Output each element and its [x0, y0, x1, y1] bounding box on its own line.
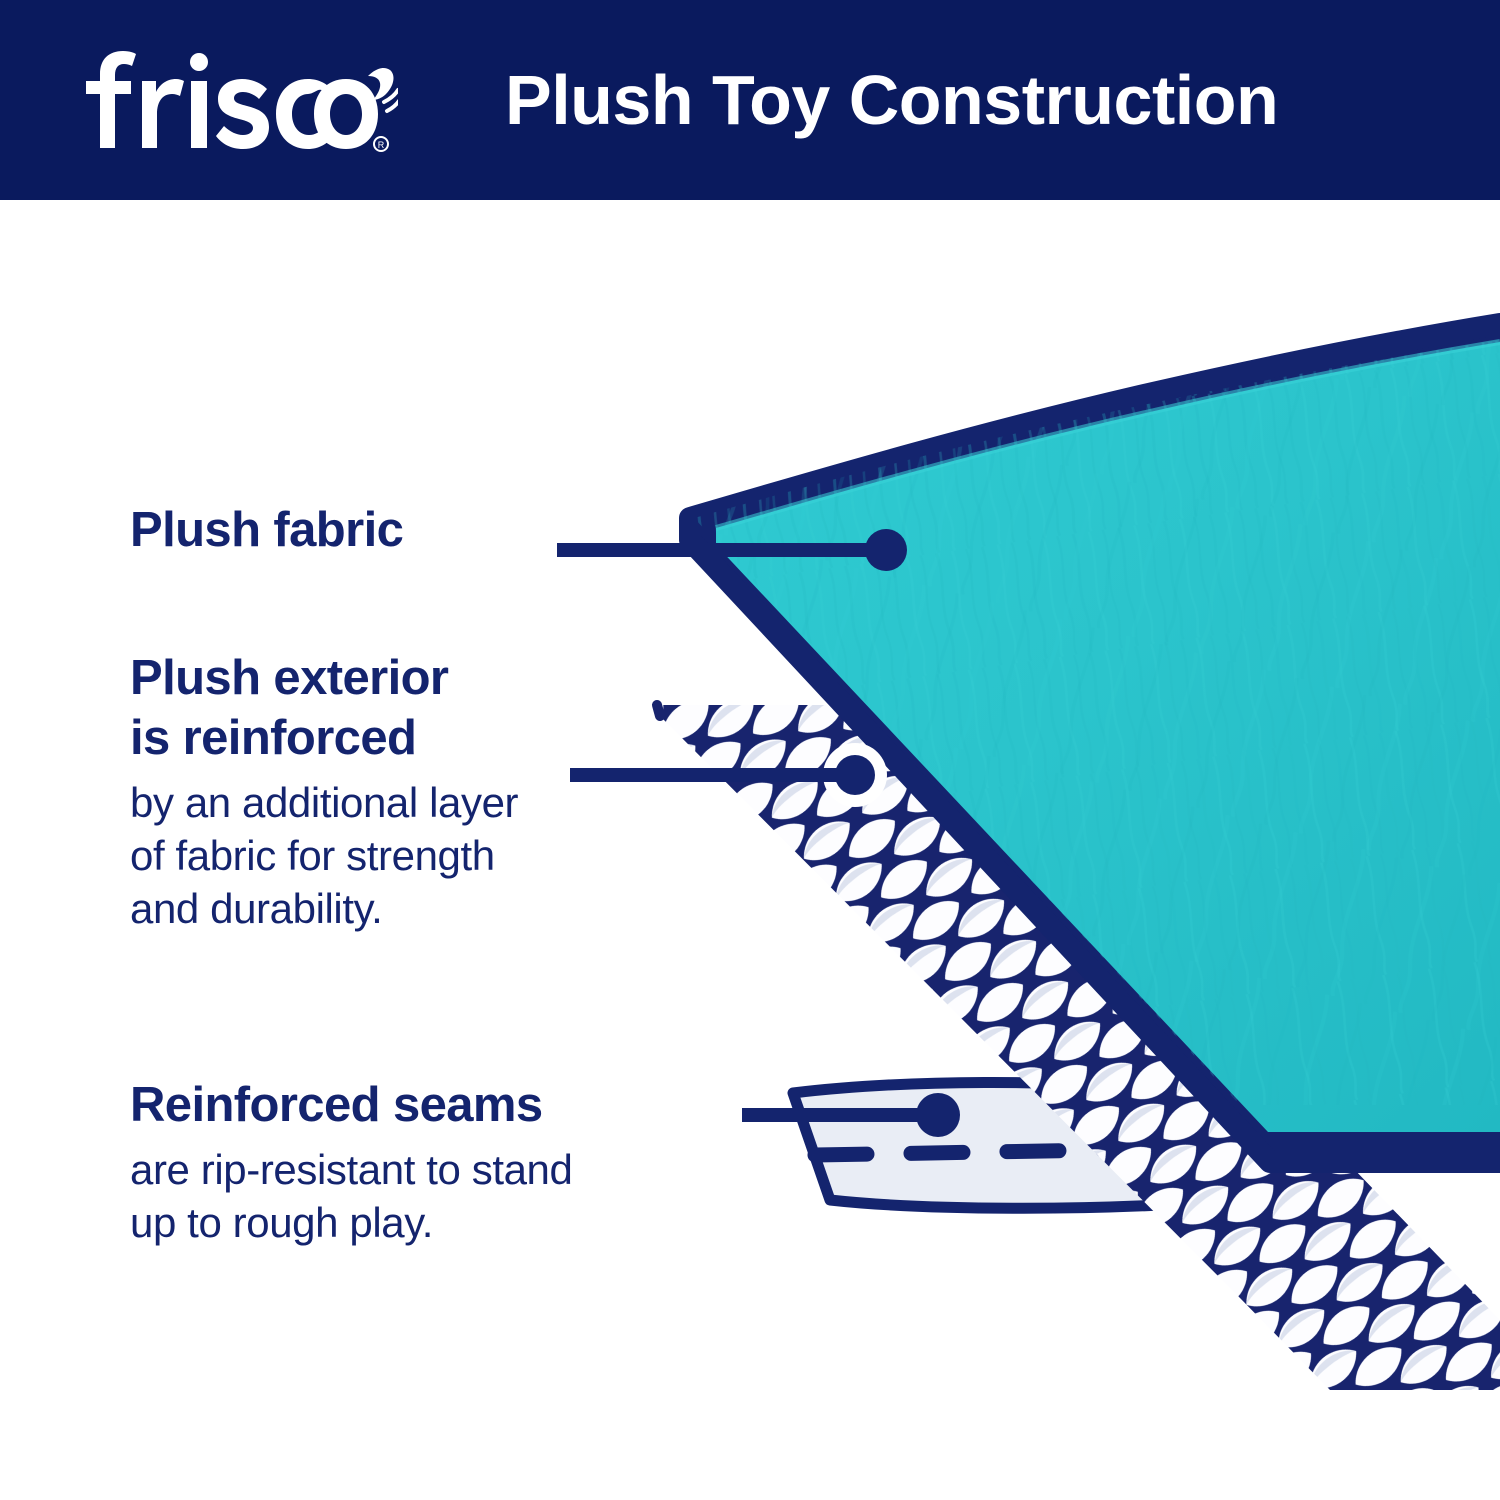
callout-reinforced-seams: Reinforced seams are rip-resistant to st…: [130, 1075, 790, 1249]
marker-dot-plush-exterior: [835, 755, 875, 795]
callout-heading: Plush fabric: [130, 500, 560, 560]
marker-dot-reinforced-seams: [916, 1093, 960, 1137]
callout-heading: Plush exterior is reinforced: [130, 648, 600, 768]
page-title: Plush Toy Construction: [505, 52, 1405, 148]
marker-dot-plush-fabric: [865, 529, 907, 571]
header-bar: R Plush Toy Construction: [0, 0, 1500, 200]
infographic-page: R Plush Toy Construction: [0, 0, 1500, 1500]
callout-plush-fabric: Plush fabric: [130, 500, 560, 560]
frisco-logo: R: [78, 48, 398, 156]
callout-body: by an additional layer of fabric for str…: [130, 776, 600, 935]
callout-plush-exterior: Plush exterior is reinforced by an addit…: [130, 648, 600, 935]
callout-body: are rip-resistant to stand up to rough p…: [130, 1143, 790, 1249]
callout-heading: Reinforced seams: [130, 1075, 790, 1135]
svg-text:R: R: [378, 140, 385, 150]
